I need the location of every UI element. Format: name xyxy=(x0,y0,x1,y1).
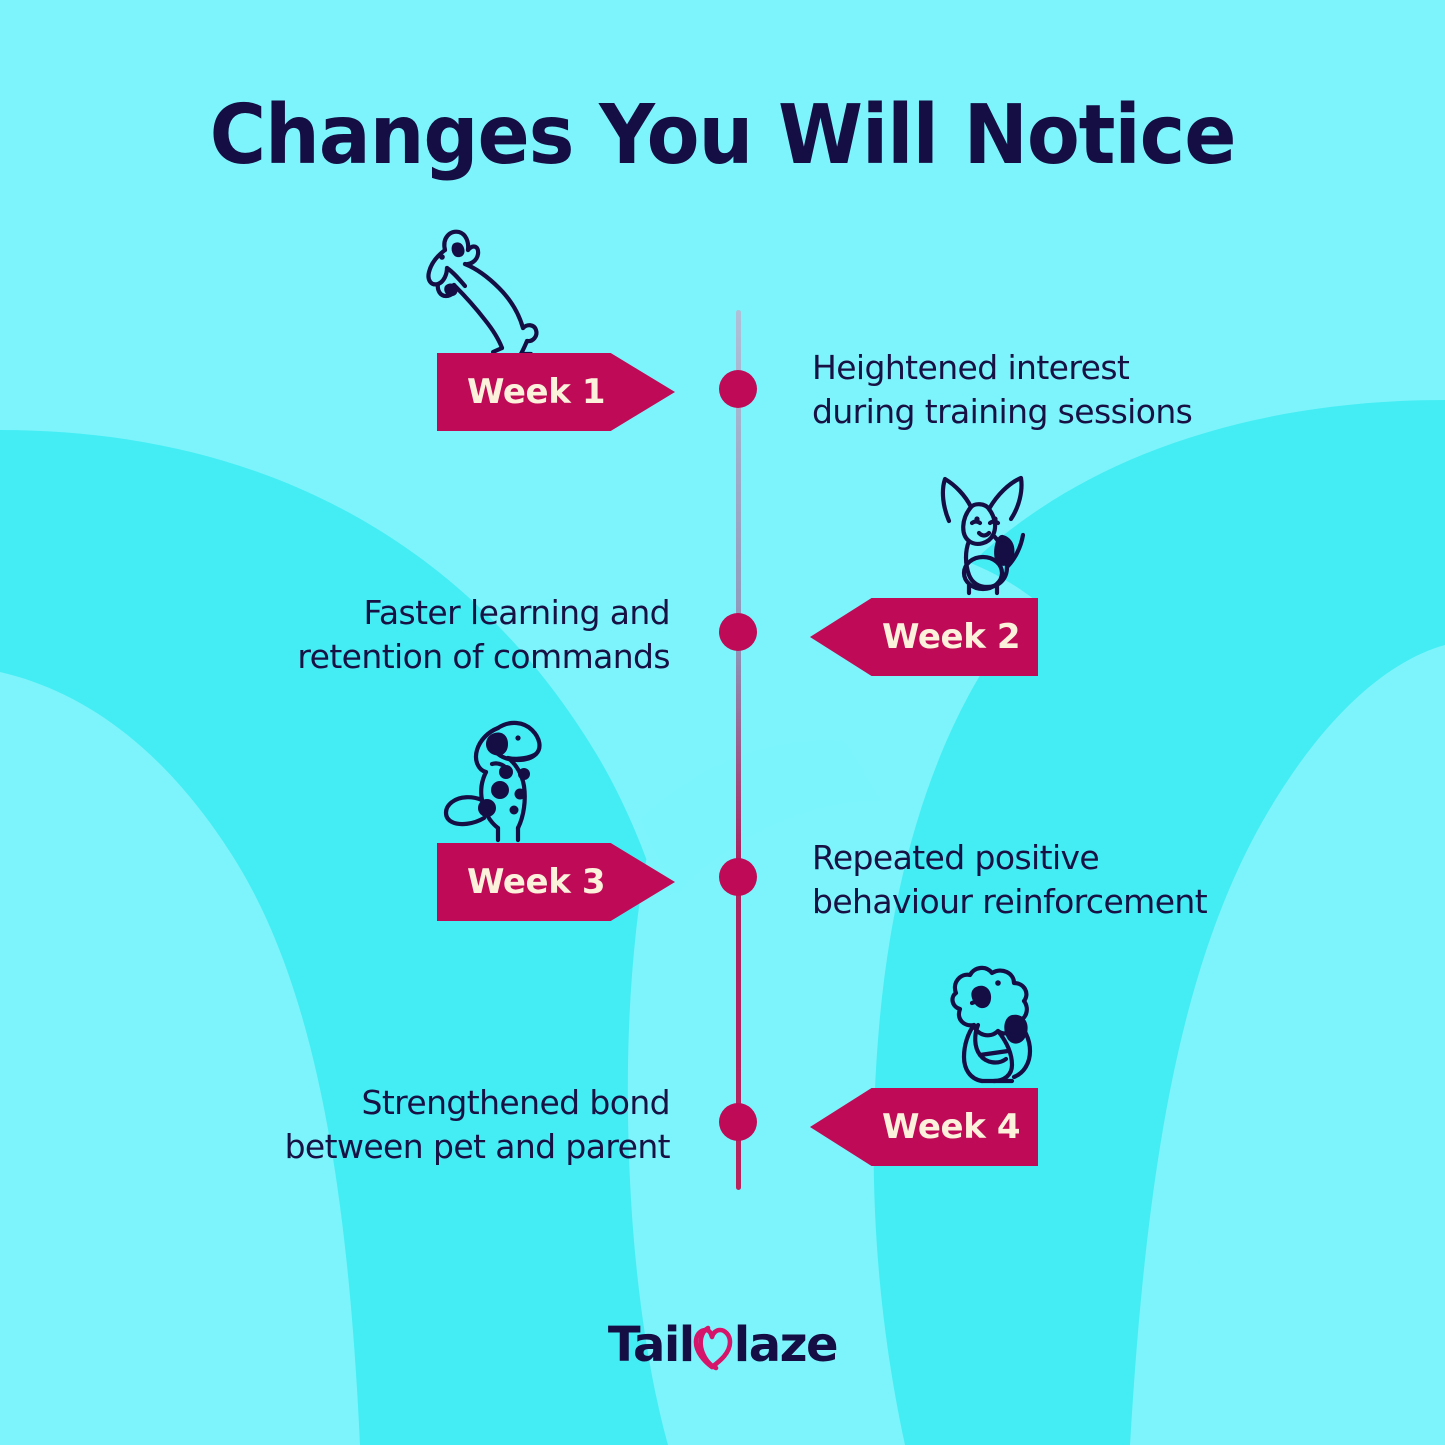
timeline-node-week-3 xyxy=(719,858,757,896)
description-week-2: Faster learning and retention of command… xyxy=(230,591,670,679)
badge-week-1-label: Week 1 xyxy=(467,372,605,412)
background-decoration xyxy=(0,0,1445,1445)
badge-week-3-label: Week 3 xyxy=(467,862,605,902)
timeline-node-week-2 xyxy=(719,613,757,651)
infographic-canvas: Changes You Will Notice xyxy=(0,0,1445,1445)
badge-week-2-label: Week 2 xyxy=(882,617,1020,657)
timeline-spine xyxy=(736,310,741,1190)
heart-b-monogram-icon xyxy=(690,1322,736,1372)
logo-text-after: laze xyxy=(734,1321,837,1369)
brand-logo[interactable]: Tail laze xyxy=(0,1320,1445,1390)
description-week-3: Repeated positive behaviour reinforcemen… xyxy=(812,836,1242,924)
page-title: Changes You Will Notice xyxy=(43,88,1401,183)
jumping-dachshund-icon xyxy=(415,224,565,359)
sitting-chihuahua-icon xyxy=(915,469,1055,604)
description-week-1: Heightened interest during training sess… xyxy=(812,346,1242,434)
spotted-dalmatian-icon xyxy=(432,714,582,849)
badge-week-4-label: Week 4 xyxy=(882,1107,1020,1147)
badge-week-1[interactable]: Week 1 xyxy=(437,353,675,431)
description-week-4: Strengthened bond between pet and parent xyxy=(230,1081,670,1169)
badge-week-4[interactable]: Week 4 xyxy=(810,1088,1038,1166)
fluffy-poodle-icon xyxy=(912,959,1057,1094)
logo-text-before: Tail xyxy=(608,1321,694,1369)
badge-week-2[interactable]: Week 2 xyxy=(810,598,1038,676)
timeline-node-week-1 xyxy=(719,370,757,408)
badge-week-3[interactable]: Week 3 xyxy=(437,843,675,921)
timeline-node-week-4 xyxy=(719,1103,757,1141)
